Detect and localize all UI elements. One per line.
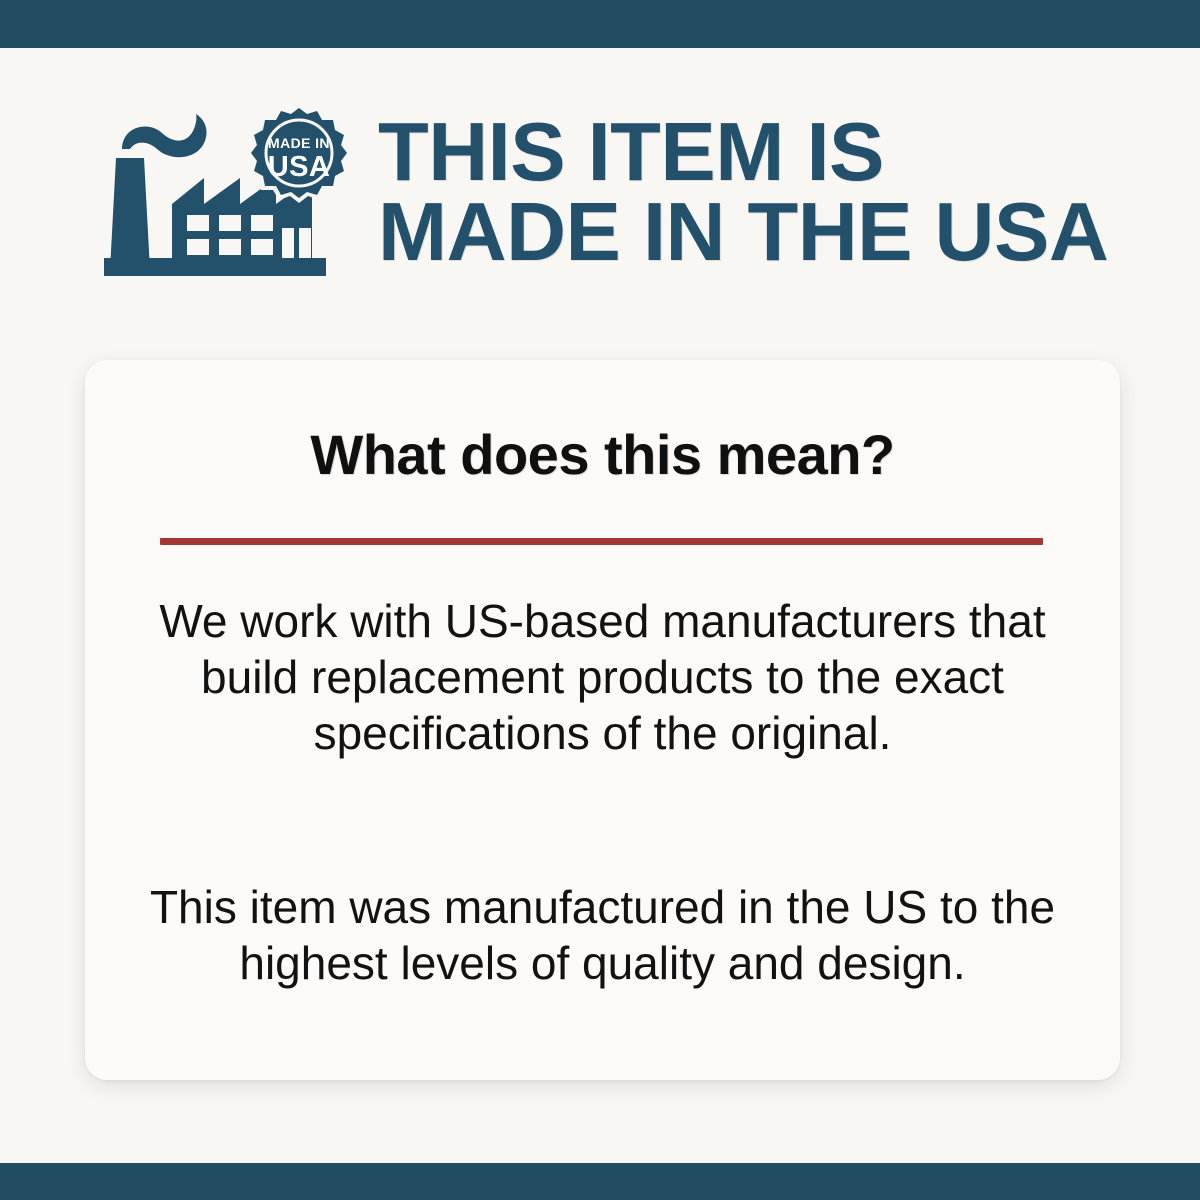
card-paragraph-1: We work with US-based manufacturers that… bbox=[145, 593, 1060, 761]
card-divider bbox=[160, 538, 1043, 545]
brand-mark: MADE IN USA bbox=[100, 100, 350, 285]
card-paragraph-2: This item was manufactured in the US to … bbox=[145, 879, 1060, 991]
badge-line-2: USA bbox=[268, 151, 330, 183]
factory-base-icon bbox=[104, 258, 326, 276]
page-title-line-1: THIS ITEM IS bbox=[378, 112, 1108, 193]
made-in-usa-banner: MADE IN USA THIS ITEM IS MADE IN THE USA… bbox=[0, 0, 1200, 1200]
factory-icon: MADE IN USA bbox=[100, 100, 350, 285]
chimney-icon bbox=[110, 158, 150, 270]
bottom-accent-bar bbox=[0, 1163, 1200, 1200]
made-in-usa-badge-icon: MADE IN USA bbox=[245, 103, 350, 203]
page-title-line-2: MADE IN THE USA bbox=[378, 192, 1108, 273]
top-accent-bar bbox=[0, 0, 1200, 48]
explanation-card: What does this mean? We work with US-bas… bbox=[85, 360, 1120, 1080]
badge-line-1: MADE IN bbox=[268, 135, 330, 151]
page-title: THIS ITEM IS MADE IN THE USA bbox=[378, 112, 1108, 273]
smoke-plume-icon bbox=[122, 114, 207, 157]
header: MADE IN USA THIS ITEM IS MADE IN THE USA bbox=[0, 92, 1200, 292]
card-heading: What does this mean? bbox=[85, 422, 1120, 487]
